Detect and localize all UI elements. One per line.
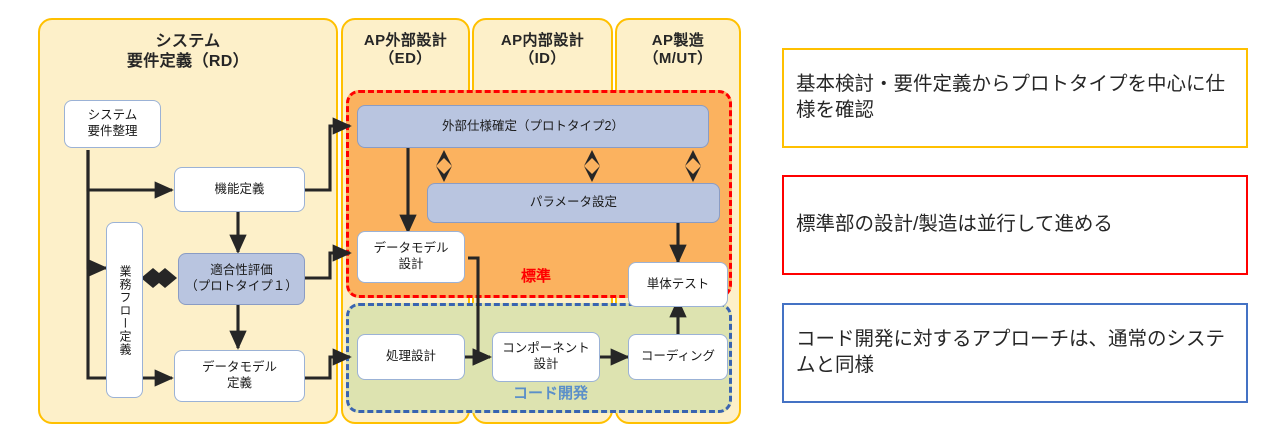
node-system-requirements[interactable]: システム要件整理 xyxy=(64,100,161,148)
node-conformity-evaluation-label: 適合性評価（プロトタイプ１） xyxy=(185,263,298,294)
phase-header-mut-line2: （M/UT） xyxy=(617,50,739,68)
legend-code-approach-text: コード開発に対するアプローチは、通常のシステムと同様 xyxy=(796,327,1234,378)
phase-header-rd: システム 要件定義（RD） xyxy=(40,32,336,71)
region-standard-label: 標準 xyxy=(521,265,551,286)
node-component-design-label: コンポーネント設計 xyxy=(502,341,590,372)
phase-header-ed-line2: （ED） xyxy=(343,50,468,68)
legend-standard-parallel-text: 標準部の設計/製造は並行して進める xyxy=(796,212,1113,238)
node-coding-label: コーディング xyxy=(641,349,715,365)
phase-header-id: AP内部設計 （ID） xyxy=(474,32,611,69)
phase-header-mut-line1: AP製造 xyxy=(617,32,739,50)
node-parameter-setting-label: パラメータ設定 xyxy=(530,195,617,211)
node-data-model-design[interactable]: データモデル設計 xyxy=(357,231,465,283)
node-business-flow-definition[interactable]: 業務フロー定義 xyxy=(106,222,143,398)
legend-code-approach: コード開発に対するアプローチは、通常のシステムと同様 xyxy=(782,303,1248,403)
node-process-design[interactable]: 処理設計 xyxy=(357,334,465,380)
phase-header-rd-line1: システム xyxy=(40,32,336,52)
node-external-spec-fix[interactable]: 外部仕様確定（プロトタイプ2） xyxy=(357,105,709,148)
legend-standard-parallel: 標準部の設計/製造は並行して進める xyxy=(782,175,1248,275)
node-process-design-label: 処理設計 xyxy=(386,349,436,365)
node-unit-test-label: 単体テスト xyxy=(647,277,710,293)
node-system-requirements-label: システム要件整理 xyxy=(87,108,137,139)
phase-header-ed: AP外部設計 （ED） xyxy=(343,32,468,69)
node-data-model-design-label: データモデル設計 xyxy=(373,241,448,272)
phase-header-id-line2: （ID） xyxy=(474,50,611,68)
region-code-development-label: コード開発 xyxy=(513,382,588,403)
node-external-spec-fix-label: 外部仕様確定（プロトタイプ2） xyxy=(442,119,624,135)
phase-header-ed-line1: AP外部設計 xyxy=(343,32,468,50)
node-unit-test[interactable]: 単体テスト xyxy=(628,262,728,307)
node-conformity-evaluation[interactable]: 適合性評価（プロトタイプ１） xyxy=(178,253,305,305)
node-function-definition[interactable]: 機能定義 xyxy=(174,167,305,212)
node-function-definition-label: 機能定義 xyxy=(214,182,264,198)
node-data-model-definition-label: データモデル定義 xyxy=(202,360,277,391)
node-parameter-setting[interactable]: パラメータ設定 xyxy=(427,183,720,223)
node-coding[interactable]: コーディング xyxy=(628,334,728,380)
diagram-canvas: システム 要件定義（RD） AP外部設計 （ED） AP内部設計 （ID） AP… xyxy=(0,0,1280,437)
legend-basic-study-text: 基本検討・要件定義からプロトタイプを中心に仕様を確認 xyxy=(796,72,1234,123)
node-component-design[interactable]: コンポーネント設計 xyxy=(492,332,600,382)
phase-header-mut: AP製造 （M/UT） xyxy=(617,32,739,69)
phase-header-rd-line2: 要件定義（RD） xyxy=(40,52,336,72)
legend-basic-study: 基本検討・要件定義からプロトタイプを中心に仕様を確認 xyxy=(782,48,1248,148)
phase-header-id-line1: AP内部設計 xyxy=(474,32,611,50)
node-data-model-definition[interactable]: データモデル定義 xyxy=(174,350,305,402)
node-business-flow-definition-label: 業務フロー定義 xyxy=(117,265,132,356)
